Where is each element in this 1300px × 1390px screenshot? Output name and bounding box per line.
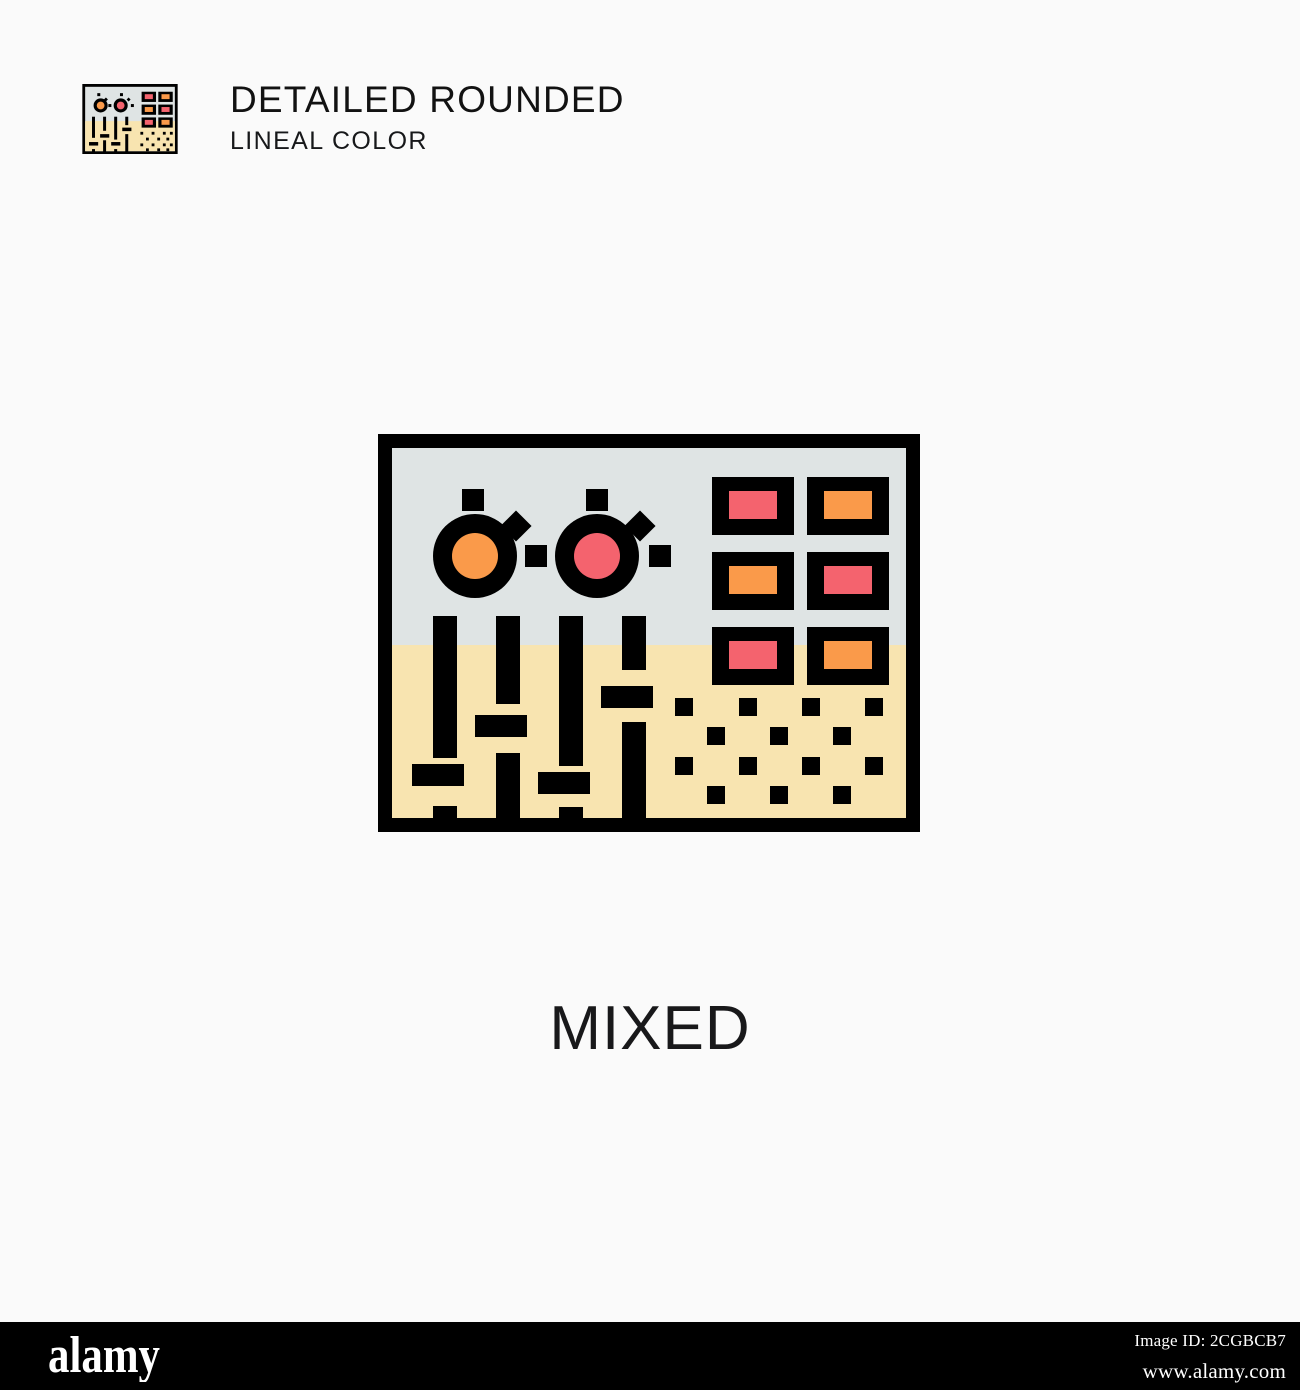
mixer-console-icon-small xyxy=(82,84,178,154)
header-subtitle: LINEAL COLOR xyxy=(230,126,625,156)
pad-r1c1 xyxy=(712,477,794,535)
main-icon-container xyxy=(378,434,920,832)
pad-r2c1 xyxy=(712,552,794,610)
alamy-watermark-bar: alamy Image ID: 2CGBCB7 www.alamy.com xyxy=(0,1322,1300,1390)
svg-text:alamy: alamy xyxy=(48,1330,160,1382)
header-text-block: DETAILED ROUNDED LINEAL COLOR xyxy=(230,80,625,156)
header: DETAILED ROUNDED LINEAL COLOR xyxy=(82,84,625,156)
header-title: DETAILED ROUNDED xyxy=(230,80,625,120)
alamy-logo-icon: alamy xyxy=(48,1330,166,1382)
page-title: MIXED xyxy=(0,993,1300,1064)
pad-r3c1 xyxy=(712,627,794,685)
image-id-label: Image ID: 2CGBCB7 xyxy=(1134,1329,1286,1354)
alamy-url-label: www.alamy.com xyxy=(1134,1356,1286,1386)
pad-r3c2 xyxy=(807,627,889,685)
footer-meta: Image ID: 2CGBCB7 www.alamy.com xyxy=(1134,1329,1286,1386)
mixer-console-icon xyxy=(378,434,920,832)
pad-r1c2 xyxy=(807,477,889,535)
pad-r2c2 xyxy=(807,552,889,610)
